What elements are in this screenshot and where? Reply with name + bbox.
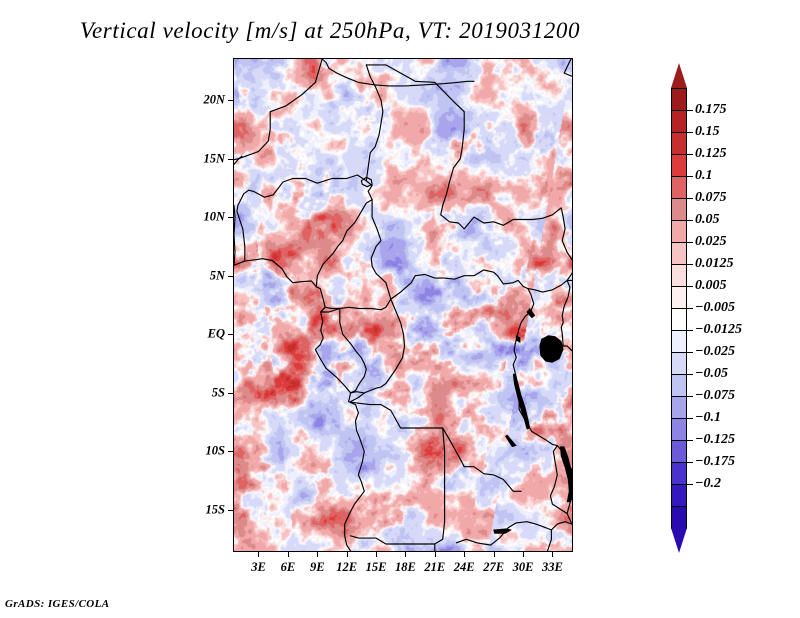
colorbar-label-4: 0.075 xyxy=(695,190,727,206)
colorbar xyxy=(671,63,687,553)
border-line-11 xyxy=(464,208,572,292)
colorbar-band-19 xyxy=(671,506,687,529)
colorbar-band-7 xyxy=(671,242,687,265)
lon-tick-21e xyxy=(435,552,436,557)
border-line-2 xyxy=(564,59,572,164)
colorbar-band-0 xyxy=(671,88,687,111)
colorbar-band-8 xyxy=(671,264,687,287)
lat-tick-5n xyxy=(228,276,233,277)
border-line-7 xyxy=(234,59,322,160)
colorbar-tick-16 xyxy=(687,462,693,463)
lake-2 xyxy=(560,447,572,502)
lat-tick-20n xyxy=(228,100,233,101)
lon-label-24e: 24E xyxy=(454,560,475,575)
border-line-18 xyxy=(548,530,552,551)
page-title: Vertical velocity [m/s] at 250hPa, VT: 2… xyxy=(0,18,660,44)
border-line-15 xyxy=(351,428,445,544)
colorbar-label-14: −0.1 xyxy=(695,410,721,426)
colorbar-tick-11 xyxy=(687,352,693,353)
colorbar-label-6: 0.025 xyxy=(695,234,727,250)
colorbar-tick-10 xyxy=(687,330,693,331)
lake-0 xyxy=(540,336,564,363)
border-line-29 xyxy=(237,190,265,261)
colorbar-label-7: 0.0125 xyxy=(695,256,734,272)
lon-label-33e: 33E xyxy=(542,560,563,575)
lon-tick-12e xyxy=(347,552,348,557)
grads-credit: GrADS: IGES/COLA xyxy=(5,598,110,610)
lake-4 xyxy=(516,336,520,343)
lat-label-20n: 20N xyxy=(171,93,225,108)
country-borders-overlay xyxy=(234,59,572,551)
colorbar-band-18 xyxy=(671,484,687,507)
colorbar-band-9 xyxy=(671,286,687,309)
colorbar-tick-4 xyxy=(687,198,693,199)
border-line-33 xyxy=(340,309,367,393)
lon-label-9e: 9E xyxy=(310,560,325,575)
colorbar-band-17 xyxy=(671,462,687,485)
colorbar-tick-15 xyxy=(687,440,693,441)
colorbar-band-4 xyxy=(671,176,687,199)
colorbar-label-17: −0.2 xyxy=(695,476,721,492)
border-paths xyxy=(234,59,572,551)
lat-label-eq: EQ xyxy=(171,327,225,342)
border-line-28 xyxy=(316,200,372,287)
border-line-14 xyxy=(351,402,521,491)
colorbar-label-16: −0.175 xyxy=(695,454,735,470)
lon-tick-3e xyxy=(258,552,259,557)
colorbar-band-10 xyxy=(671,308,687,331)
colorbar-label-11: −0.025 xyxy=(695,344,735,360)
border-line-9 xyxy=(366,65,464,229)
colorbar-label-0: 0.175 xyxy=(695,102,727,118)
lat-tick-10n xyxy=(228,217,233,218)
colorbar-tick-13 xyxy=(687,396,693,397)
lake-7 xyxy=(505,435,516,447)
border-line-31 xyxy=(325,299,391,310)
lat-label-5n: 5N xyxy=(171,268,225,283)
colorbar-label-15: −0.125 xyxy=(695,432,735,448)
colorbar-band-13 xyxy=(671,374,687,397)
border-line-0 xyxy=(234,259,364,551)
colorbar-label-2: 0.125 xyxy=(695,146,727,162)
colorbar-label-10: −0.0125 xyxy=(695,322,742,338)
colorbar-label-12: −0.05 xyxy=(695,366,728,382)
colorbar-band-3 xyxy=(671,154,687,177)
colorbar-label-13: −0.075 xyxy=(695,388,735,404)
colorbar-tick-5 xyxy=(687,220,693,221)
lon-tick-24e xyxy=(464,552,465,557)
colorbar-tick-3 xyxy=(687,176,693,177)
lon-tick-6e xyxy=(288,552,289,557)
border-line-13 xyxy=(561,280,572,388)
colorbar-tick-8 xyxy=(687,286,693,287)
lon-tick-33e xyxy=(552,552,553,557)
colorbar-arrow-top xyxy=(671,63,687,88)
lon-tick-30e xyxy=(523,552,524,557)
colorbar-label-1: 0.15 xyxy=(695,124,720,140)
lat-tick-15s xyxy=(228,510,233,511)
border-line-10 xyxy=(366,65,497,299)
colorbar-tick-1 xyxy=(687,132,693,133)
map-plot-area xyxy=(233,58,573,552)
colorbar-band-6 xyxy=(671,220,687,243)
border-line-30 xyxy=(234,205,235,265)
lon-label-12e: 12E xyxy=(336,560,357,575)
lake-3 xyxy=(527,309,535,318)
lat-label-15s: 15S xyxy=(171,503,225,518)
colorbar-band-11 xyxy=(671,330,687,353)
colorbar-tick-0 xyxy=(687,110,693,111)
colorbar-band-15 xyxy=(671,418,687,441)
colorbar-band-5 xyxy=(671,198,687,221)
lon-label-3e: 3E xyxy=(251,560,266,575)
colorbar-label-8: 0.005 xyxy=(695,278,727,294)
colorbar-tick-17 xyxy=(687,484,693,485)
lon-label-6e: 6E xyxy=(281,560,296,575)
lon-label-21e: 21E xyxy=(424,560,445,575)
colorbar-band-1 xyxy=(671,110,687,133)
border-line-34 xyxy=(351,299,405,402)
lat-tick-10s xyxy=(228,451,233,452)
lon-tick-27e xyxy=(494,552,495,557)
colorbar-label-5: 0.05 xyxy=(695,212,720,228)
lat-label-15n: 15N xyxy=(171,151,225,166)
colorbar-tick-7 xyxy=(687,264,693,265)
lat-tick-15n xyxy=(228,159,233,160)
colorbar-tick-6 xyxy=(687,242,693,243)
lat-label-10s: 10S xyxy=(171,444,225,459)
lon-label-18e: 18E xyxy=(395,560,416,575)
colorbar-arrow-bottom xyxy=(671,528,687,553)
lat-tick-5s xyxy=(228,393,233,394)
lon-tick-18e xyxy=(405,552,406,557)
lon-label-15e: 15E xyxy=(366,560,387,575)
lat-label-10n: 10N xyxy=(171,210,225,225)
colorbar-band-14 xyxy=(671,396,687,419)
colorbar-tick-2 xyxy=(687,154,693,155)
lat-label-5s: 5S xyxy=(171,385,225,400)
lon-tick-15e xyxy=(376,552,377,557)
lon-label-27e: 27E xyxy=(483,560,504,575)
border-line-8 xyxy=(264,175,366,197)
lon-label-30e: 30E xyxy=(513,560,534,575)
colorbar-band-12 xyxy=(671,352,687,375)
colorbar-tick-9 xyxy=(687,308,693,309)
colorbar-band-2 xyxy=(671,132,687,155)
colorbar-label-3: 0.1 xyxy=(695,168,713,184)
border-line-17 xyxy=(456,522,572,545)
lat-tick-eq xyxy=(228,334,233,335)
colorbar-label-9: −0.005 xyxy=(695,300,735,316)
colorbar-band-16 xyxy=(671,440,687,463)
border-line-21 xyxy=(532,432,558,446)
border-line-1 xyxy=(322,59,474,86)
lon-tick-9e xyxy=(317,552,318,557)
lake-1 xyxy=(513,374,530,429)
colorbar-tick-12 xyxy=(687,374,693,375)
colorbar-tick-14 xyxy=(687,418,693,419)
lake-6 xyxy=(494,529,512,534)
